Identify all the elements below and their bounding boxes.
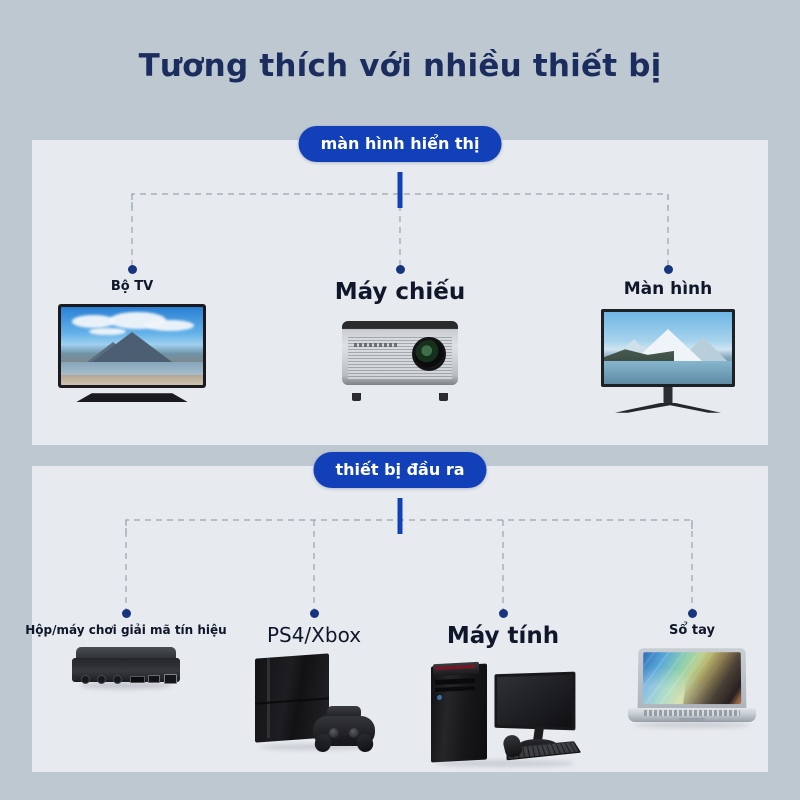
node-dot [128,265,137,274]
node-laptop[interactable]: Sổ tay [624,609,760,728]
node-projector[interactable]: Máy chiếu [332,265,468,401]
node-label-tv: Bộ TV [111,280,153,294]
tv-icon [58,304,206,404]
node-dot [664,265,673,274]
node-dot [122,609,131,618]
monitor-icon [601,309,735,413]
node-dot [396,265,405,274]
node-label-monitor: Màn hình [624,280,713,299]
desktop-computer-icon [427,659,579,767]
node-dot [688,609,697,618]
node-label-laptop: Sổ tay [669,624,715,638]
node-desktop-computer[interactable]: Máy tính [435,609,571,767]
node-monitor[interactable]: Màn hình [600,265,736,413]
node-label-projector: Máy chiếu [335,280,466,305]
node-label-desktop-computer: Máy tính [447,624,559,649]
badge-display-devices[interactable]: màn hình hiển thị [299,126,502,162]
badge-stem-output [398,498,403,534]
node-label-game-console: PS4/Xbox [267,624,361,646]
page-title: Tương thích với nhiều thiết bị [0,48,800,84]
compatibility-infographic: Tương thích với nhiều thiết bị màn hình … [0,0,800,800]
laptop-icon [628,648,756,728]
section-display-devices: màn hình hiển thị Bộ TV [32,140,768,445]
node-tv[interactable]: Bộ TV [64,265,200,404]
node-label-set-top-box: Hộp/máy chơi giải mã tín hiệu [25,624,226,637]
section-output-devices: thiết bị đầu ra Hộp/máy chơi giải mã tín… [32,466,768,772]
game-console-icon [253,656,375,748]
badge-stem-display [398,172,403,208]
node-set-top-box[interactable]: Hộp/máy chơi giải mã tín hiệu [48,609,204,695]
set-top-box-icon [72,647,180,695]
node-dot [310,609,319,618]
node-game-console[interactable]: PS4/Xbox [246,609,382,748]
node-dot [499,609,508,618]
badge-output-devices[interactable]: thiết bị đầu ra [314,452,487,488]
projector-icon [342,315,458,401]
